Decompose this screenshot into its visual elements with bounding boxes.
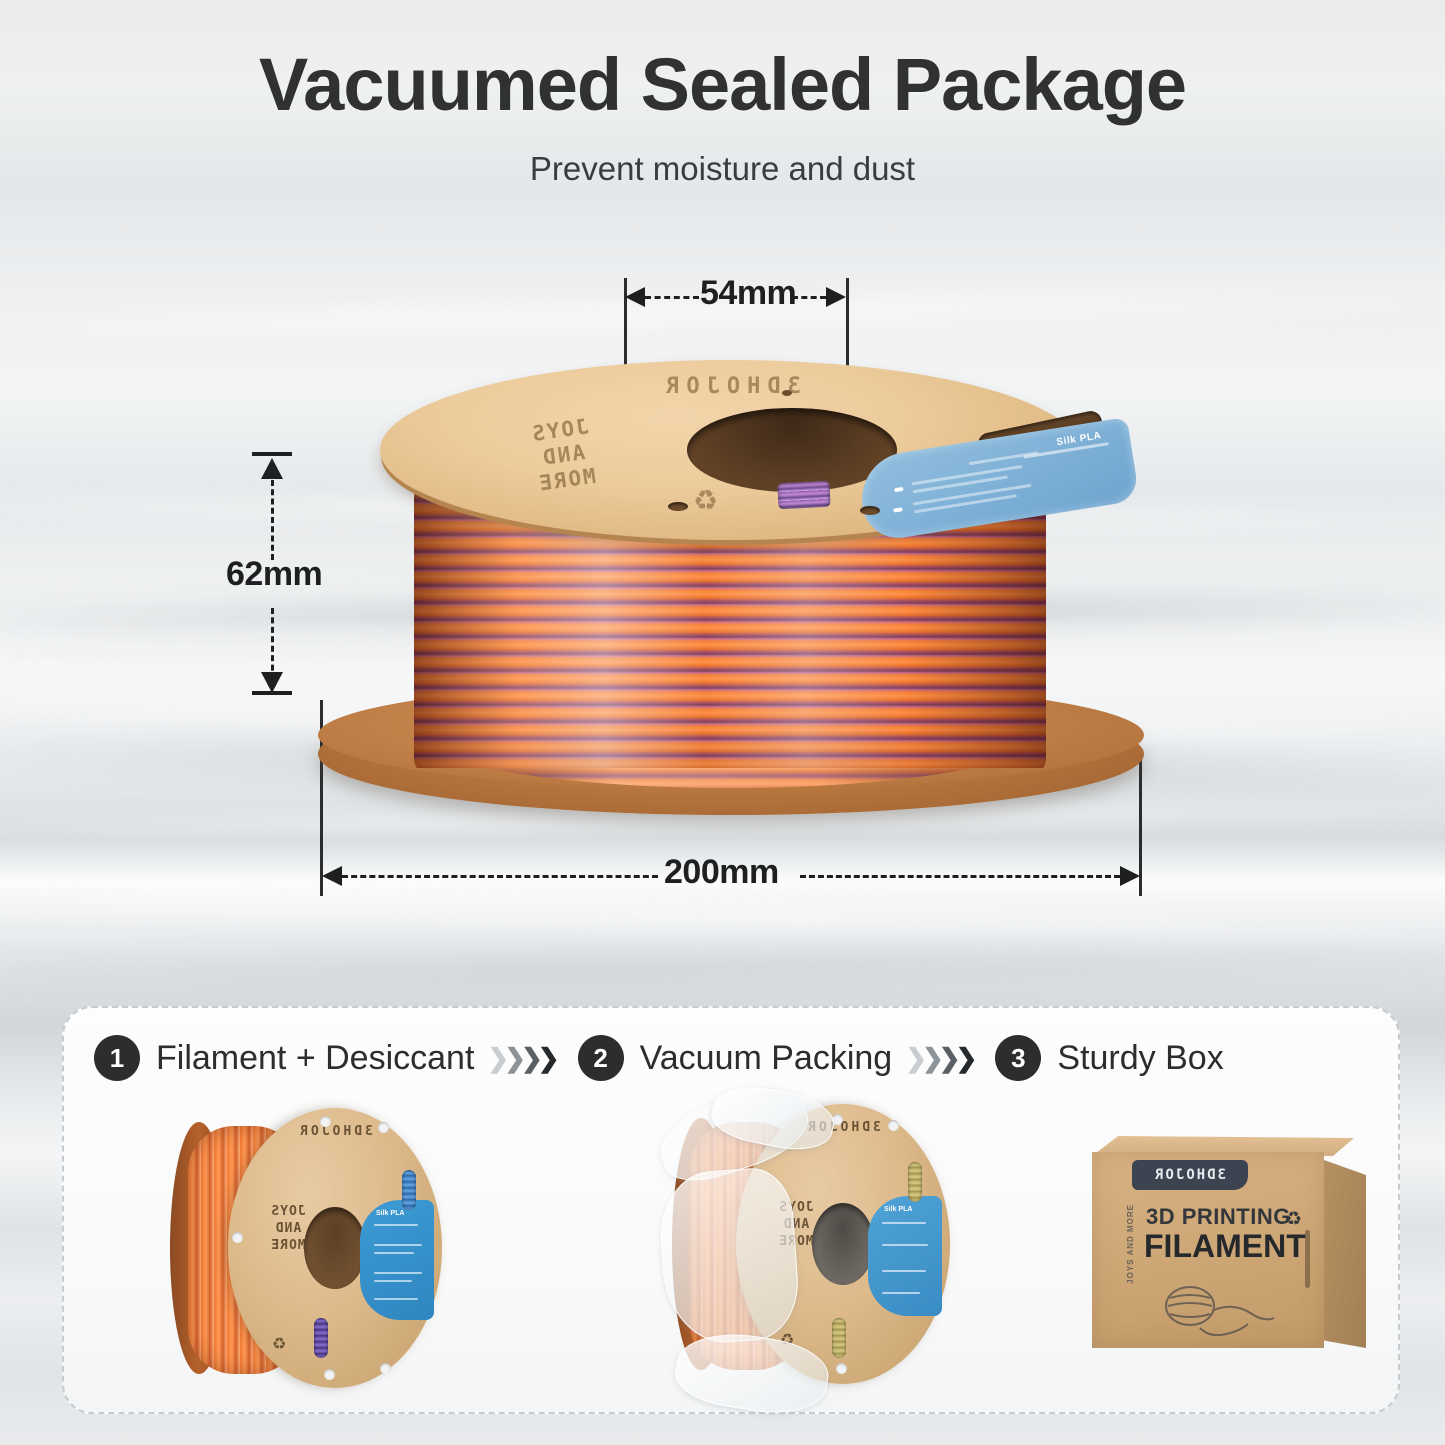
- recycle-icon: ♻: [693, 484, 718, 517]
- step-image-3: 3DHOJOR JOYS AND MORE 3D PRINTING FILAME…: [1064, 1098, 1384, 1398]
- step-label-1: Filament + Desiccant: [156, 1039, 474, 1078]
- spool-photo-plain: 3DHOJOR JOYS AND MORE Silk PLA: [170, 1108, 442, 1388]
- page-title: Vacuumed Sealed Package: [0, 46, 1445, 124]
- steps-header-row: 1 Filament + Desiccant ❯❯❯❯ 2 Vacuum Pac…: [64, 1030, 1398, 1086]
- spool-mount-hole: [380, 1363, 391, 1374]
- product-box: 3DHOJOR JOYS AND MORE 3D PRINTING FILAME…: [1092, 1152, 1368, 1352]
- recycle-icon: ♻: [272, 1334, 286, 1354]
- dim-cap-bottom-62: [252, 691, 292, 695]
- box-illustration: [1148, 1284, 1278, 1340]
- step-header-3[interactable]: 3 Sturdy Box: [995, 1035, 1223, 1081]
- filament-end-slot: [908, 1162, 922, 1202]
- spool-center-hole: [812, 1203, 874, 1285]
- header: Vacuumed Sealed Package Prevent moisture…: [0, 46, 1445, 188]
- label-title: Silk PLA: [376, 1210, 404, 1217]
- step-image-2: 3DHOJOR JOYS AND MORE Silk PLA: [654, 1098, 974, 1398]
- box-brand-text: 3DHOJOR: [1153, 1167, 1226, 1183]
- spool-mount-hole: [378, 1122, 389, 1133]
- label-text-line: [882, 1292, 920, 1294]
- spool-tagline: JOYS AND MORE: [484, 408, 643, 502]
- packaging-steps-panel: 1 Filament + Desiccant ❯❯❯❯ 2 Vacuum Pac…: [62, 1006, 1400, 1414]
- label-text-line: [882, 1244, 928, 1246]
- spool-mount-hole: [232, 1232, 243, 1243]
- steps-image-row: 3DHOJOR JOYS AND MORE Silk PLA: [64, 1098, 1398, 1398]
- box-line-1: 3D PRINTING: [1146, 1204, 1291, 1230]
- dim-arrow-left-200: [322, 866, 342, 886]
- step-badge-3: 3: [995, 1035, 1041, 1081]
- dimension-label-200mm: 200mm: [664, 853, 779, 892]
- box-side-panel: [1324, 1160, 1366, 1348]
- dim-dash-right-54: [792, 296, 826, 299]
- box-front-panel: 3DHOJOR JOYS AND MORE 3D PRINTING FILAME…: [1092, 1152, 1324, 1348]
- spool-front-face: 3DHOJOR JOYS AND MORE Silk PLA: [228, 1108, 442, 1388]
- spool-brand-text: 3DHOJOR: [297, 1124, 373, 1139]
- label-text-line: [374, 1252, 414, 1254]
- filament-end-slot: [402, 1170, 416, 1210]
- spool-top-flange: 3DHOJOR JOYS AND MORE ♻ Silk PLA: [380, 360, 1080, 540]
- box-handle-slot: [1305, 1230, 1310, 1288]
- dim-dash-upper-62: [271, 480, 274, 560]
- label-text-line: [882, 1270, 926, 1272]
- dim-arrow-up-62: [261, 458, 283, 479]
- spool-center-hole: [304, 1207, 366, 1289]
- filament-end-slot: [777, 481, 830, 510]
- dim-arrow-down-62: [261, 672, 283, 693]
- dim-arrow-right-200: [1120, 866, 1140, 886]
- dimension-label-62mm: 62mm: [226, 555, 322, 594]
- filament-end-slot: [314, 1318, 328, 1358]
- label-text-line: [969, 451, 1039, 465]
- chevron-right-icon: ❯❯❯❯: [492, 1045, 559, 1071]
- filament-end-slot: [832, 1318, 846, 1358]
- spool-pin-hole: [782, 390, 792, 396]
- spool-info-label: Silk PLA: [360, 1200, 434, 1320]
- step-header-2[interactable]: 2 Vacuum Packing: [578, 1035, 893, 1081]
- page-subtitle: Prevent moisture and dust: [0, 150, 1445, 188]
- infographic-canvas: Vacuumed Sealed Package Prevent moisture…: [0, 0, 1445, 1445]
- dim-arrow-right-54: [826, 287, 846, 307]
- spool-mount-hole: [320, 1116, 331, 1127]
- filament-spool-main: 3DHOJOR JOYS AND MORE ♻ Silk PLA: [318, 360, 1144, 815]
- label-text-line: [374, 1298, 418, 1300]
- chevron-right-icon: ❯❯❯❯: [910, 1045, 977, 1071]
- spool-photo-vacuum-sealed: 3DHOJOR JOYS AND MORE Silk PLA: [672, 1104, 950, 1392]
- recycle-icon: ♻: [1285, 1208, 1302, 1231]
- dim-cap-top-62: [252, 452, 292, 456]
- spool-mount-hole: [668, 502, 688, 511]
- label-text-line: [374, 1280, 412, 1282]
- dim-dash-left-200: [342, 875, 658, 878]
- label-text-line: [374, 1272, 422, 1274]
- step-label-2: Vacuum Packing: [640, 1039, 893, 1078]
- label-bullet: [894, 487, 904, 492]
- box-brand-logo: 3DHOJOR: [1132, 1160, 1248, 1190]
- spool-mount-hole: [860, 506, 880, 515]
- spool-mount-hole: [836, 1363, 847, 1374]
- label-text-line: [374, 1244, 422, 1246]
- dim-dash-right-200: [800, 875, 1120, 878]
- box-line-2: FILAMENT: [1144, 1228, 1306, 1265]
- spool-brand-text: 3DHOJOR: [659, 374, 801, 399]
- box-side-text: JOYS AND MORE: [1126, 1204, 1135, 1284]
- step-badge-1: 1: [94, 1035, 140, 1081]
- spool-mount-hole: [888, 1120, 899, 1131]
- dim-dash-lower-62: [271, 608, 274, 680]
- label-text-line: [374, 1224, 418, 1226]
- step-image-1: 3DHOJOR JOYS AND MORE Silk PLA: [160, 1098, 460, 1398]
- step-header-1[interactable]: 1 Filament + Desiccant: [94, 1035, 474, 1081]
- step-badge-2: 2: [578, 1035, 624, 1081]
- label-text-line: [882, 1222, 926, 1224]
- step-label-3: Sturdy Box: [1057, 1039, 1223, 1078]
- spool-info-label: Silk PLA: [868, 1196, 942, 1316]
- dim-dash-left-54: [645, 296, 699, 299]
- spool-mount-hole: [324, 1369, 335, 1380]
- dim-arrow-left-54: [625, 287, 645, 307]
- dimension-label-54mm: 54mm: [700, 274, 796, 313]
- label-title: Silk PLA: [884, 1206, 912, 1213]
- label-bullet: [893, 507, 903, 512]
